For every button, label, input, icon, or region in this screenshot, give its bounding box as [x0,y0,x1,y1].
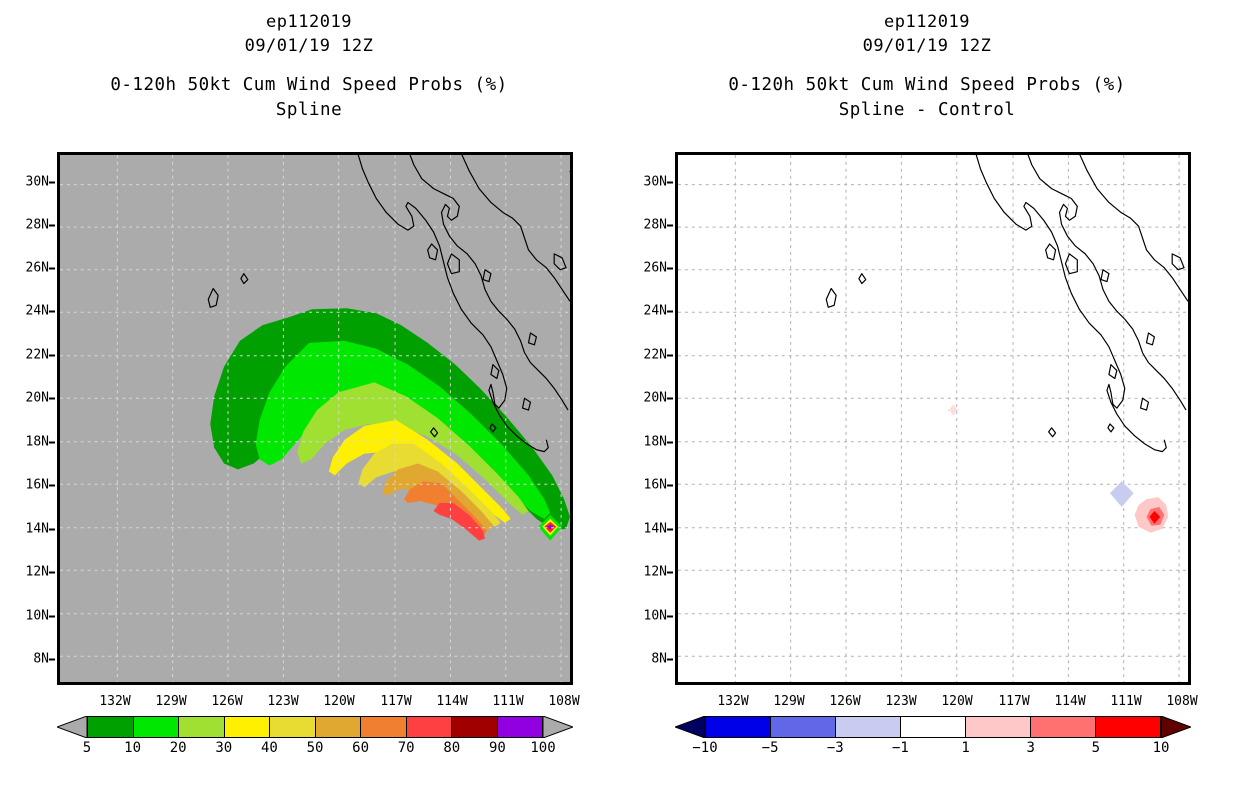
left-xtick-111w: 111W [492,694,523,709]
left-ytick-20n: 20N [26,391,49,406]
left-colorbar-label-8: 80 [443,740,460,756]
right-colorbar-band-0 [706,717,771,737]
left-ytick-28n: 28N [26,218,49,233]
right-colorbar-label-0: −10 [692,740,717,756]
right-colorbar-band-3 [901,717,966,737]
left-colorbar-band-5 [316,717,362,737]
left-colorbar[interactable]: 5102030405060708090100 [57,716,573,738]
right-colorbar-label-6: 5 [1092,740,1100,756]
right-datetime: 09/01/19 12Z [618,34,1236,58]
left-xtick-117w: 117W [380,694,411,709]
right-colorbar-label-5: 3 [1026,740,1034,756]
left-ytick-16n: 16N [26,478,49,493]
right-colorbar-high-cap [1161,716,1191,738]
left-ytick-30n: 30N [26,175,49,190]
right-colorbar-band-6 [1096,717,1160,737]
left-colorbar-label-0: 5 [83,740,91,756]
right-ytick-26n: 26N [644,261,667,276]
left-xtick-126w: 126W [211,694,242,709]
left-colorbar-label-10: 100 [530,740,555,756]
panel-spline-minus-control: ep112019 09/01/19 12Z 0-120h 50kt Cum Wi… [618,0,1236,800]
right-ytick-16n: 16N [644,478,667,493]
left-colorbar-high-cap [543,716,573,738]
right-colorbar-label-2: −3 [827,740,844,756]
right-panel-titles: ep112019 09/01/19 12Z 0-120h 50kt Cum Wi… [618,10,1236,122]
left-colorbar-band-4 [270,717,316,737]
left-subtitle: Spline [0,98,618,122]
right-xtick-132w: 132W [717,694,748,709]
left-title: 0-120h 50kt Cum Wind Speed Probs (%) [0,72,618,98]
right-ytick-20n: 20N [644,391,667,406]
right-colorbar-labels: −10−5−3−113510 [705,740,1161,758]
right-colorbar-band-4 [966,717,1031,737]
right-xtick-123w: 123W [885,694,916,709]
left-ytick-24n: 24N [26,304,49,319]
left-colorbar-band-9 [498,717,543,737]
right-ytick-24n: 24N [644,304,667,319]
right-colorbar-label-3: −1 [892,740,909,756]
left-colorbar-band-2 [179,717,225,737]
left-colorbar-label-6: 60 [352,740,369,756]
left-ytick-26n: 26N [26,261,49,276]
right-colorbar-band-1 [771,717,836,737]
right-xtick-111w: 111W [1110,694,1141,709]
right-xtick-129w: 129W [773,694,804,709]
left-colorbar-low-cap [57,716,87,738]
left-xtick-114w: 114W [436,694,467,709]
right-ytick-22n: 22N [644,348,667,363]
left-ytick-18n: 18N [26,435,49,450]
left-colorbar-label-3: 30 [215,740,232,756]
left-ytick-22n: 22N [26,348,49,363]
left-ytick-12n: 12N [26,565,49,580]
right-colorbar-label-7: 10 [1153,740,1170,756]
left-ytick-10n: 10N [26,609,49,624]
left-storm-id: ep112019 [0,10,618,34]
left-datetime: 09/01/19 12Z [0,34,618,58]
right-colorbar-band-2 [836,717,901,737]
right-axis-layer: 30N 28N 26N 24N 22N 20N 18N 16N 14N 12N … [675,152,1191,685]
left-colorbar-band-1 [134,717,180,737]
right-ytick-10n: 10N [644,609,667,624]
left-xtick-108w: 108W [548,694,579,709]
left-colorbar-band-7 [407,717,453,737]
right-ytick-8n: 8N [651,652,667,667]
right-title: 0-120h 50kt Cum Wind Speed Probs (%) [618,72,1236,98]
right-colorbar[interactable]: −10−5−3−113510 [675,716,1191,738]
right-ytick-18n: 18N [644,435,667,450]
left-axis-layer: 30N 28N 26N 24N 22N 20N 18N 16N 14N 12N … [57,152,573,685]
right-ytick-30n: 30N [644,175,667,190]
left-xtick-129w: 129W [155,694,186,709]
left-panel-titles: ep112019 09/01/19 12Z 0-120h 50kt Cum Wi… [0,10,618,122]
left-colorbar-band-6 [361,717,407,737]
left-colorbar-bands [87,716,543,738]
left-ytick-8n: 8N [33,652,49,667]
left-colorbar-label-1: 10 [124,740,141,756]
left-colorbar-label-9: 90 [489,740,506,756]
left-colorbar-labels: 5102030405060708090100 [87,740,543,758]
right-xtick-108w: 108W [1166,694,1197,709]
left-xtick-120w: 120W [323,694,354,709]
right-subtitle: Spline - Control [618,98,1236,122]
right-colorbar-low-cap [675,716,705,738]
right-xtick-126w: 126W [829,694,860,709]
right-colorbar-band-5 [1031,717,1096,737]
right-ytick-28n: 28N [644,218,667,233]
left-colorbar-label-5: 50 [307,740,324,756]
left-colorbar-label-4: 40 [261,740,278,756]
left-xtick-132w: 132W [99,694,130,709]
left-xtick-123w: 123W [267,694,298,709]
left-colorbar-band-8 [452,717,498,737]
right-xtick-117w: 117W [998,694,1029,709]
right-xtick-120w: 120W [941,694,972,709]
left-ytick-14n: 14N [26,522,49,537]
right-xtick-114w: 114W [1054,694,1085,709]
left-colorbar-label-7: 70 [398,740,415,756]
right-colorbar-label-1: −5 [762,740,779,756]
left-colorbar-label-2: 20 [170,740,187,756]
right-ytick-12n: 12N [644,565,667,580]
panel-spline: ep112019 09/01/19 12Z 0-120h 50kt Cum Wi… [0,0,618,800]
left-colorbar-band-3 [225,717,271,737]
right-colorbar-bands [705,716,1161,738]
right-colorbar-label-4: 1 [961,740,969,756]
right-storm-id: ep112019 [618,10,1236,34]
left-colorbar-band-0 [88,717,134,737]
right-ytick-14n: 14N [644,522,667,537]
